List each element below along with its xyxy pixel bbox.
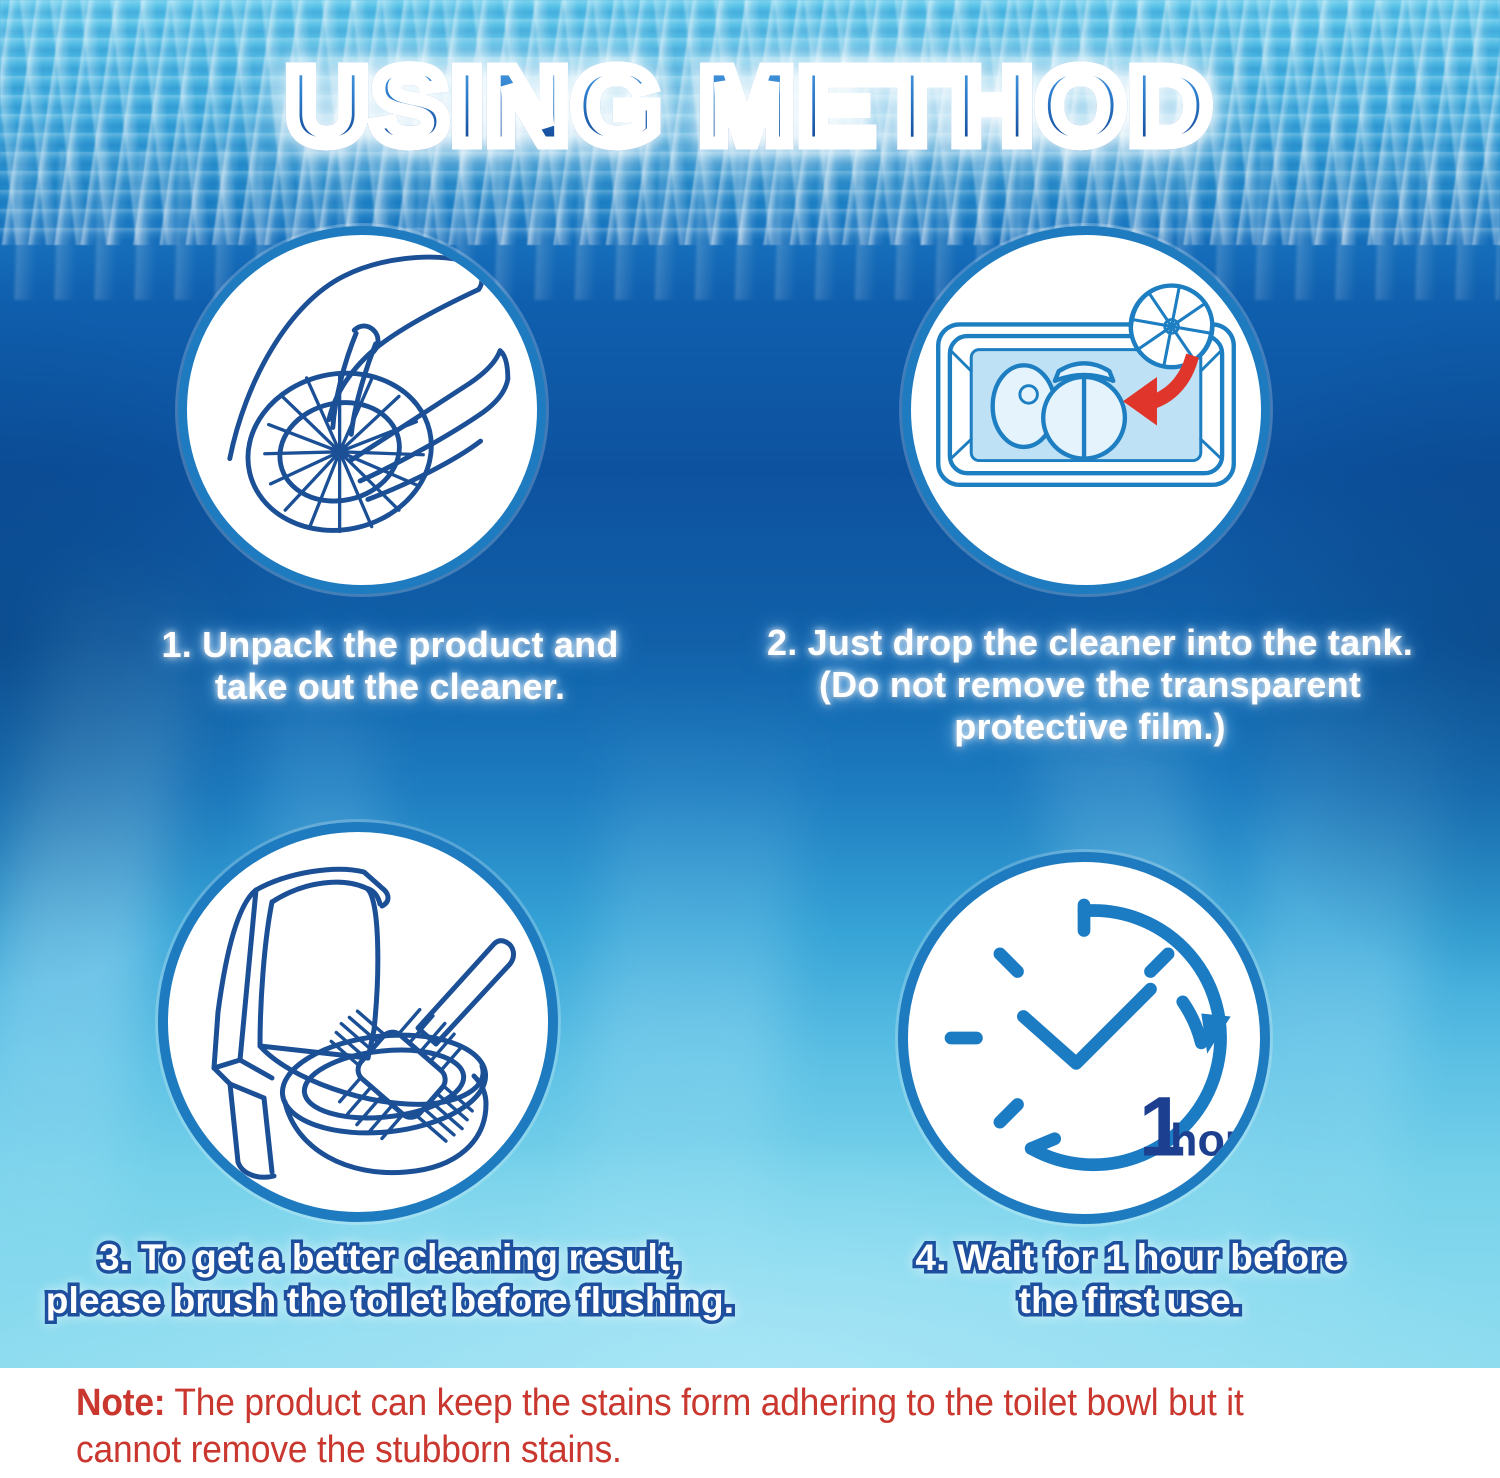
caption-line: take out the cleaner.	[80, 666, 700, 708]
caption-line: (Do not remove the transparent	[740, 664, 1440, 706]
step-3-caption: 3. To get a better cleaning result,pleas…	[20, 1236, 760, 1323]
clock-ticks	[951, 905, 1168, 1122]
page-title: USING METHOD	[0, 52, 1500, 160]
caption-line: 4. Wait for 1 hour before	[850, 1236, 1410, 1279]
note-band: Note: The product can keep the stains fo…	[0, 1368, 1500, 1478]
caption-line: the first use.	[850, 1279, 1410, 1322]
caption-line: protective film.)	[740, 706, 1440, 748]
step-3-icon-circle	[158, 822, 558, 1222]
note-label: Note:	[76, 1382, 165, 1424]
clock-one-hour-icon: 1 hour	[908, 862, 1260, 1214]
note-body: The product can keep the stains form adh…	[76, 1382, 1244, 1471]
step-4-icon-circle: 1 hour	[898, 852, 1270, 1224]
note-text: Note: The product can keep the stains fo…	[76, 1380, 1350, 1474]
using-method-poster: USING METHOD	[0, 0, 1500, 1478]
clock-hands	[1023, 989, 1150, 1063]
step-2-caption: 2. Just drop the cleaner into the tank.(…	[740, 622, 1440, 748]
cleaner-tablet-shutter-icon	[1131, 286, 1213, 368]
step-4-caption: 4. Wait for 1 hour beforethe first use.	[850, 1236, 1410, 1323]
step-1-caption: 1. Unpack the product andtake out the cl…	[80, 624, 700, 708]
step-2-icon-circle	[902, 226, 1270, 594]
caption-line: 1. Unpack the product and	[80, 624, 700, 666]
toilet-with-brush-icon	[168, 832, 548, 1212]
caption-line: 2. Just drop the cleaner into the tank.	[740, 622, 1440, 664]
dual-flush-button	[1043, 363, 1125, 458]
caption-line: 3. To get a better cleaning result,	[20, 1236, 760, 1279]
toilet-tank-drop-cleaner-icon	[911, 235, 1261, 585]
caption-line: please brush the toilet before flushing.	[20, 1279, 760, 1322]
hand-holding-cleaner-puck-icon	[187, 235, 537, 585]
step-1-icon-circle	[178, 226, 546, 594]
